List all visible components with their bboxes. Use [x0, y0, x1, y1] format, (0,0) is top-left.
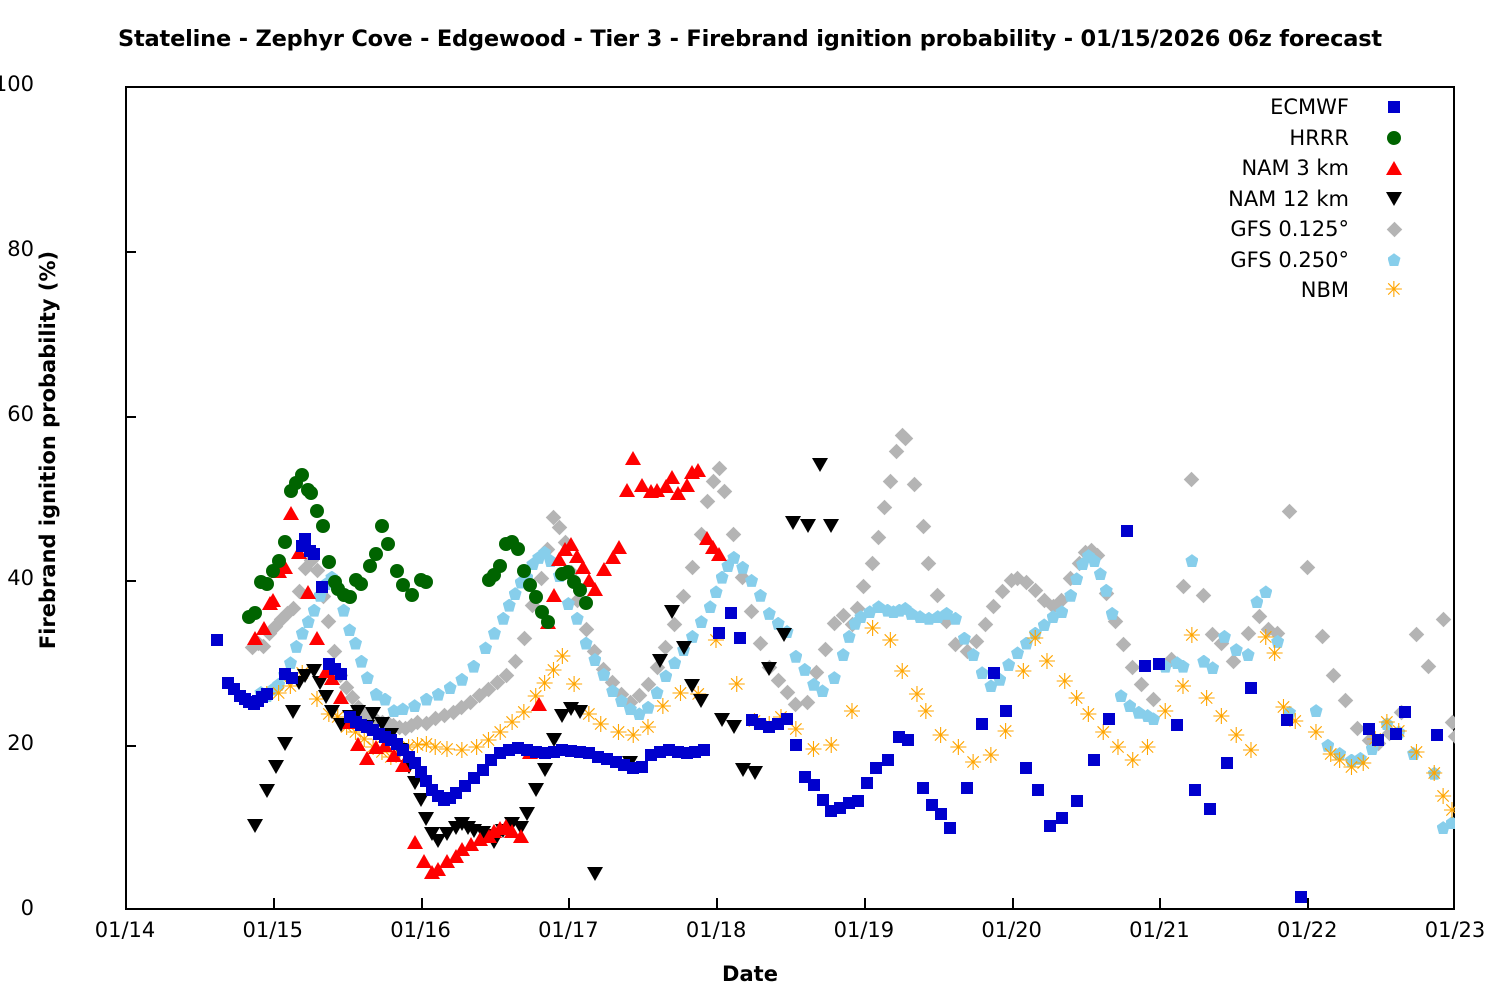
legend-marker-circle-icon	[1383, 127, 1405, 149]
diamond-icon	[1386, 221, 1402, 237]
data-point	[316, 581, 328, 593]
data-point	[1204, 803, 1216, 815]
legend-label: HRRR	[1289, 126, 1383, 150]
data-point	[286, 672, 298, 684]
circle-icon	[1387, 131, 1401, 145]
data-point	[1088, 754, 1100, 766]
data-point	[1103, 713, 1115, 725]
y-tick-label: 60	[0, 402, 34, 426]
legend-label: ECMWF	[1270, 95, 1383, 119]
legend-label: NBM	[1301, 278, 1383, 302]
triangle-up-icon	[1386, 161, 1402, 175]
data-point	[713, 627, 725, 639]
x-tick-label: 01/16	[351, 918, 491, 942]
chart-title: Stateline - Zephyr Cove - Edgewood - Tie…	[0, 26, 1500, 52]
data-point	[1399, 706, 1411, 718]
data-point	[1245, 682, 1257, 694]
data-point	[882, 754, 894, 766]
data-point	[852, 795, 864, 807]
x-tick-label: 01/23	[1385, 918, 1500, 942]
legend-label: NAM 12 km	[1228, 187, 1383, 211]
data-point	[1044, 820, 1056, 832]
data-point	[308, 548, 320, 560]
legend-marker-pentagon-icon	[1383, 249, 1405, 271]
chart-legend: ECMWFHRRRNAM 3 kmNAM 12 kmGFS 0.125°GFS …	[1160, 92, 1405, 306]
data-point	[1000, 705, 1012, 717]
data-point	[1171, 719, 1183, 731]
data-point	[817, 794, 829, 806]
legend-item-nbm[interactable]: NBM✳	[1160, 275, 1405, 306]
x-tick-label: 01/20	[942, 918, 1082, 942]
data-point	[870, 762, 882, 774]
x-tick-label: 01/19	[794, 918, 934, 942]
data-point	[1056, 812, 1068, 824]
data-point	[1189, 784, 1201, 796]
legend-marker-triangle-up-icon	[1383, 157, 1405, 179]
legend-marker-triangle-down-icon	[1383, 188, 1405, 210]
data-point	[808, 779, 820, 791]
data-point	[1295, 891, 1307, 903]
legend-marker-asterisk-icon: ✳	[1383, 279, 1405, 301]
data-point	[1281, 714, 1293, 726]
data-point	[1390, 728, 1402, 740]
y-axis-label: Firebrand ignition probability (%)	[36, 180, 60, 720]
data-point	[790, 739, 802, 751]
data-point	[861, 777, 873, 789]
legend-item-hrrr[interactable]: HRRR	[1160, 123, 1405, 154]
square-icon	[1388, 101, 1400, 113]
data-point	[725, 607, 737, 619]
data-point	[935, 808, 947, 820]
data-point	[261, 688, 273, 700]
x-tick-label: 01/22	[1237, 918, 1377, 942]
pentagon-icon	[1388, 253, 1401, 266]
x-axis-label: Date	[0, 962, 1500, 986]
data-point	[1032, 784, 1044, 796]
data-point	[1020, 762, 1032, 774]
legend-item-nam-3-km[interactable]: NAM 3 km	[1160, 153, 1405, 184]
data-point	[1431, 729, 1443, 741]
x-tick-label: 01/18	[646, 918, 786, 942]
triangle-down-icon	[1386, 192, 1402, 206]
y-tick-label: 100	[0, 72, 34, 96]
data-point	[636, 761, 648, 773]
legend-item-ecmwf[interactable]: ECMWF	[1160, 92, 1405, 123]
legend-label: GFS 0.250°	[1230, 248, 1383, 272]
data-point	[1121, 525, 1133, 537]
data-point	[1139, 660, 1151, 672]
data-point	[917, 782, 929, 794]
x-tick-label: 01/14	[55, 918, 195, 942]
legend-item-gfs-0-125[interactable]: GFS 0.125°	[1160, 214, 1405, 245]
y-tick-label: 20	[0, 731, 34, 755]
data-point	[1071, 795, 1083, 807]
data-point	[335, 668, 347, 680]
data-point	[976, 718, 988, 730]
data-point	[299, 533, 311, 545]
data-point	[902, 734, 914, 746]
x-tick-label: 01/21	[1089, 918, 1229, 942]
x-tick-label: 01/15	[203, 918, 343, 942]
data-point	[944, 822, 956, 834]
chart-figure: Stateline - Zephyr Cove - Edgewood - Tie…	[0, 0, 1500, 1000]
y-tick-label: 0	[0, 896, 34, 920]
data-point	[988, 667, 1000, 679]
y-tick-label: 40	[0, 566, 34, 590]
legend-label: GFS 0.125°	[1230, 217, 1383, 241]
data-point	[781, 713, 793, 725]
y-tick-label: 80	[0, 237, 34, 261]
data-point	[1153, 658, 1165, 670]
data-point	[961, 782, 973, 794]
data-point	[734, 632, 746, 644]
legend-item-nam-12-km[interactable]: NAM 12 km	[1160, 184, 1405, 215]
x-tick-label: 01/17	[498, 918, 638, 942]
data-point	[698, 744, 710, 756]
data-point	[1372, 734, 1384, 746]
legend-label: NAM 3 km	[1241, 156, 1383, 180]
asterisk-icon: ✳	[1385, 281, 1404, 300]
data-point	[1221, 757, 1233, 769]
data-point	[211, 634, 223, 646]
legend-marker-diamond-icon	[1383, 218, 1405, 240]
legend-item-gfs-0-250[interactable]: GFS 0.250°	[1160, 245, 1405, 276]
data-point	[1363, 723, 1375, 735]
legend-marker-square-icon	[1383, 96, 1405, 118]
